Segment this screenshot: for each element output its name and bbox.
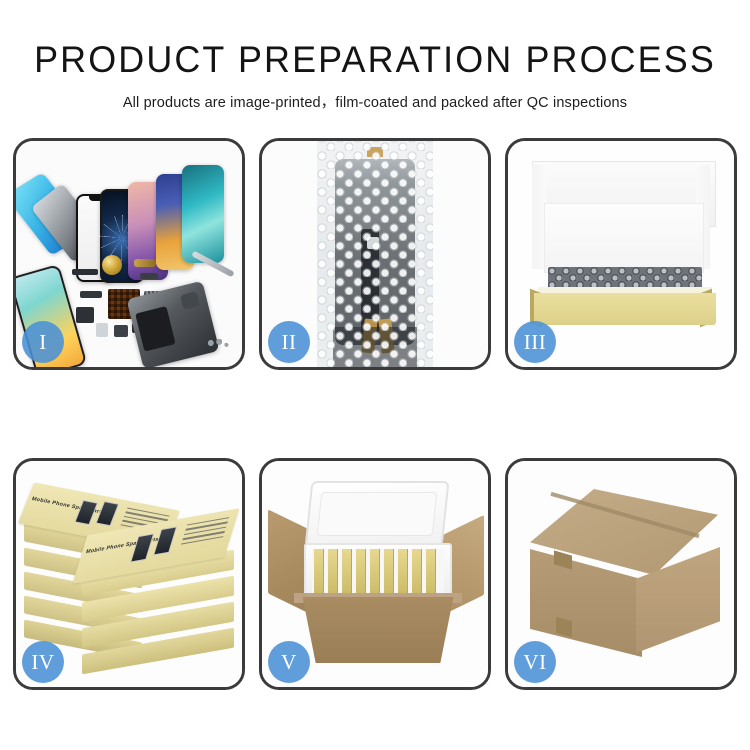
- step-badge-4: IV: [22, 641, 64, 683]
- process-steps-grid: I II: [13, 138, 737, 690]
- foam-box-lid: [305, 481, 450, 547]
- page-subtitle: All products are image-printed，film-coat…: [0, 91, 750, 112]
- carton-body: [296, 597, 460, 663]
- step-panel-2: II: [259, 138, 491, 370]
- box-front-panel: [534, 293, 716, 325]
- part-gold-flex: [134, 259, 156, 267]
- product-preparation-process-page: PRODUCT PREPARATION PROCESS All products…: [0, 0, 750, 750]
- box-phone-image-2: [95, 501, 119, 526]
- part-battery-small: [96, 323, 108, 337]
- phone-internals: [126, 281, 219, 367]
- step-panel-6: VI: [505, 458, 737, 690]
- part-connector-3: [140, 273, 158, 279]
- yellow-boxes-inside: [312, 549, 444, 593]
- step-panel-5: V: [259, 458, 491, 690]
- box-spec-lines-front: [178, 517, 229, 554]
- box-phone-image-4: [153, 526, 177, 555]
- step-panel-4: Mobile Phone Spare Parts Mobile Phone Sp…: [13, 458, 245, 690]
- part-module-3: [114, 325, 128, 337]
- camera-lens-icon: [102, 255, 122, 275]
- part-connector-1: [72, 269, 98, 275]
- bubble-wrap-bag: [317, 141, 433, 367]
- step-badge-1: I: [22, 321, 64, 363]
- step-badge-3: III: [514, 321, 556, 363]
- page-title: PRODUCT PREPARATION PROCESS: [11, 38, 739, 82]
- step-panel-1: I: [13, 138, 245, 370]
- bubble-texture: [317, 141, 433, 367]
- phone-screen-teal: [182, 165, 224, 263]
- screws: [206, 337, 230, 349]
- step-badge-2: II: [268, 321, 310, 363]
- foam-sheet: [544, 203, 704, 273]
- step-panel-3: III: [505, 138, 737, 370]
- box-phone-image-3: [130, 533, 154, 562]
- part-connector-2: [80, 291, 102, 298]
- step-badge-5: V: [268, 641, 310, 683]
- part-module-1: [76, 307, 94, 323]
- step-badge-6: VI: [514, 641, 556, 683]
- page-header: PRODUCT PREPARATION PROCESS All products…: [0, 0, 750, 112]
